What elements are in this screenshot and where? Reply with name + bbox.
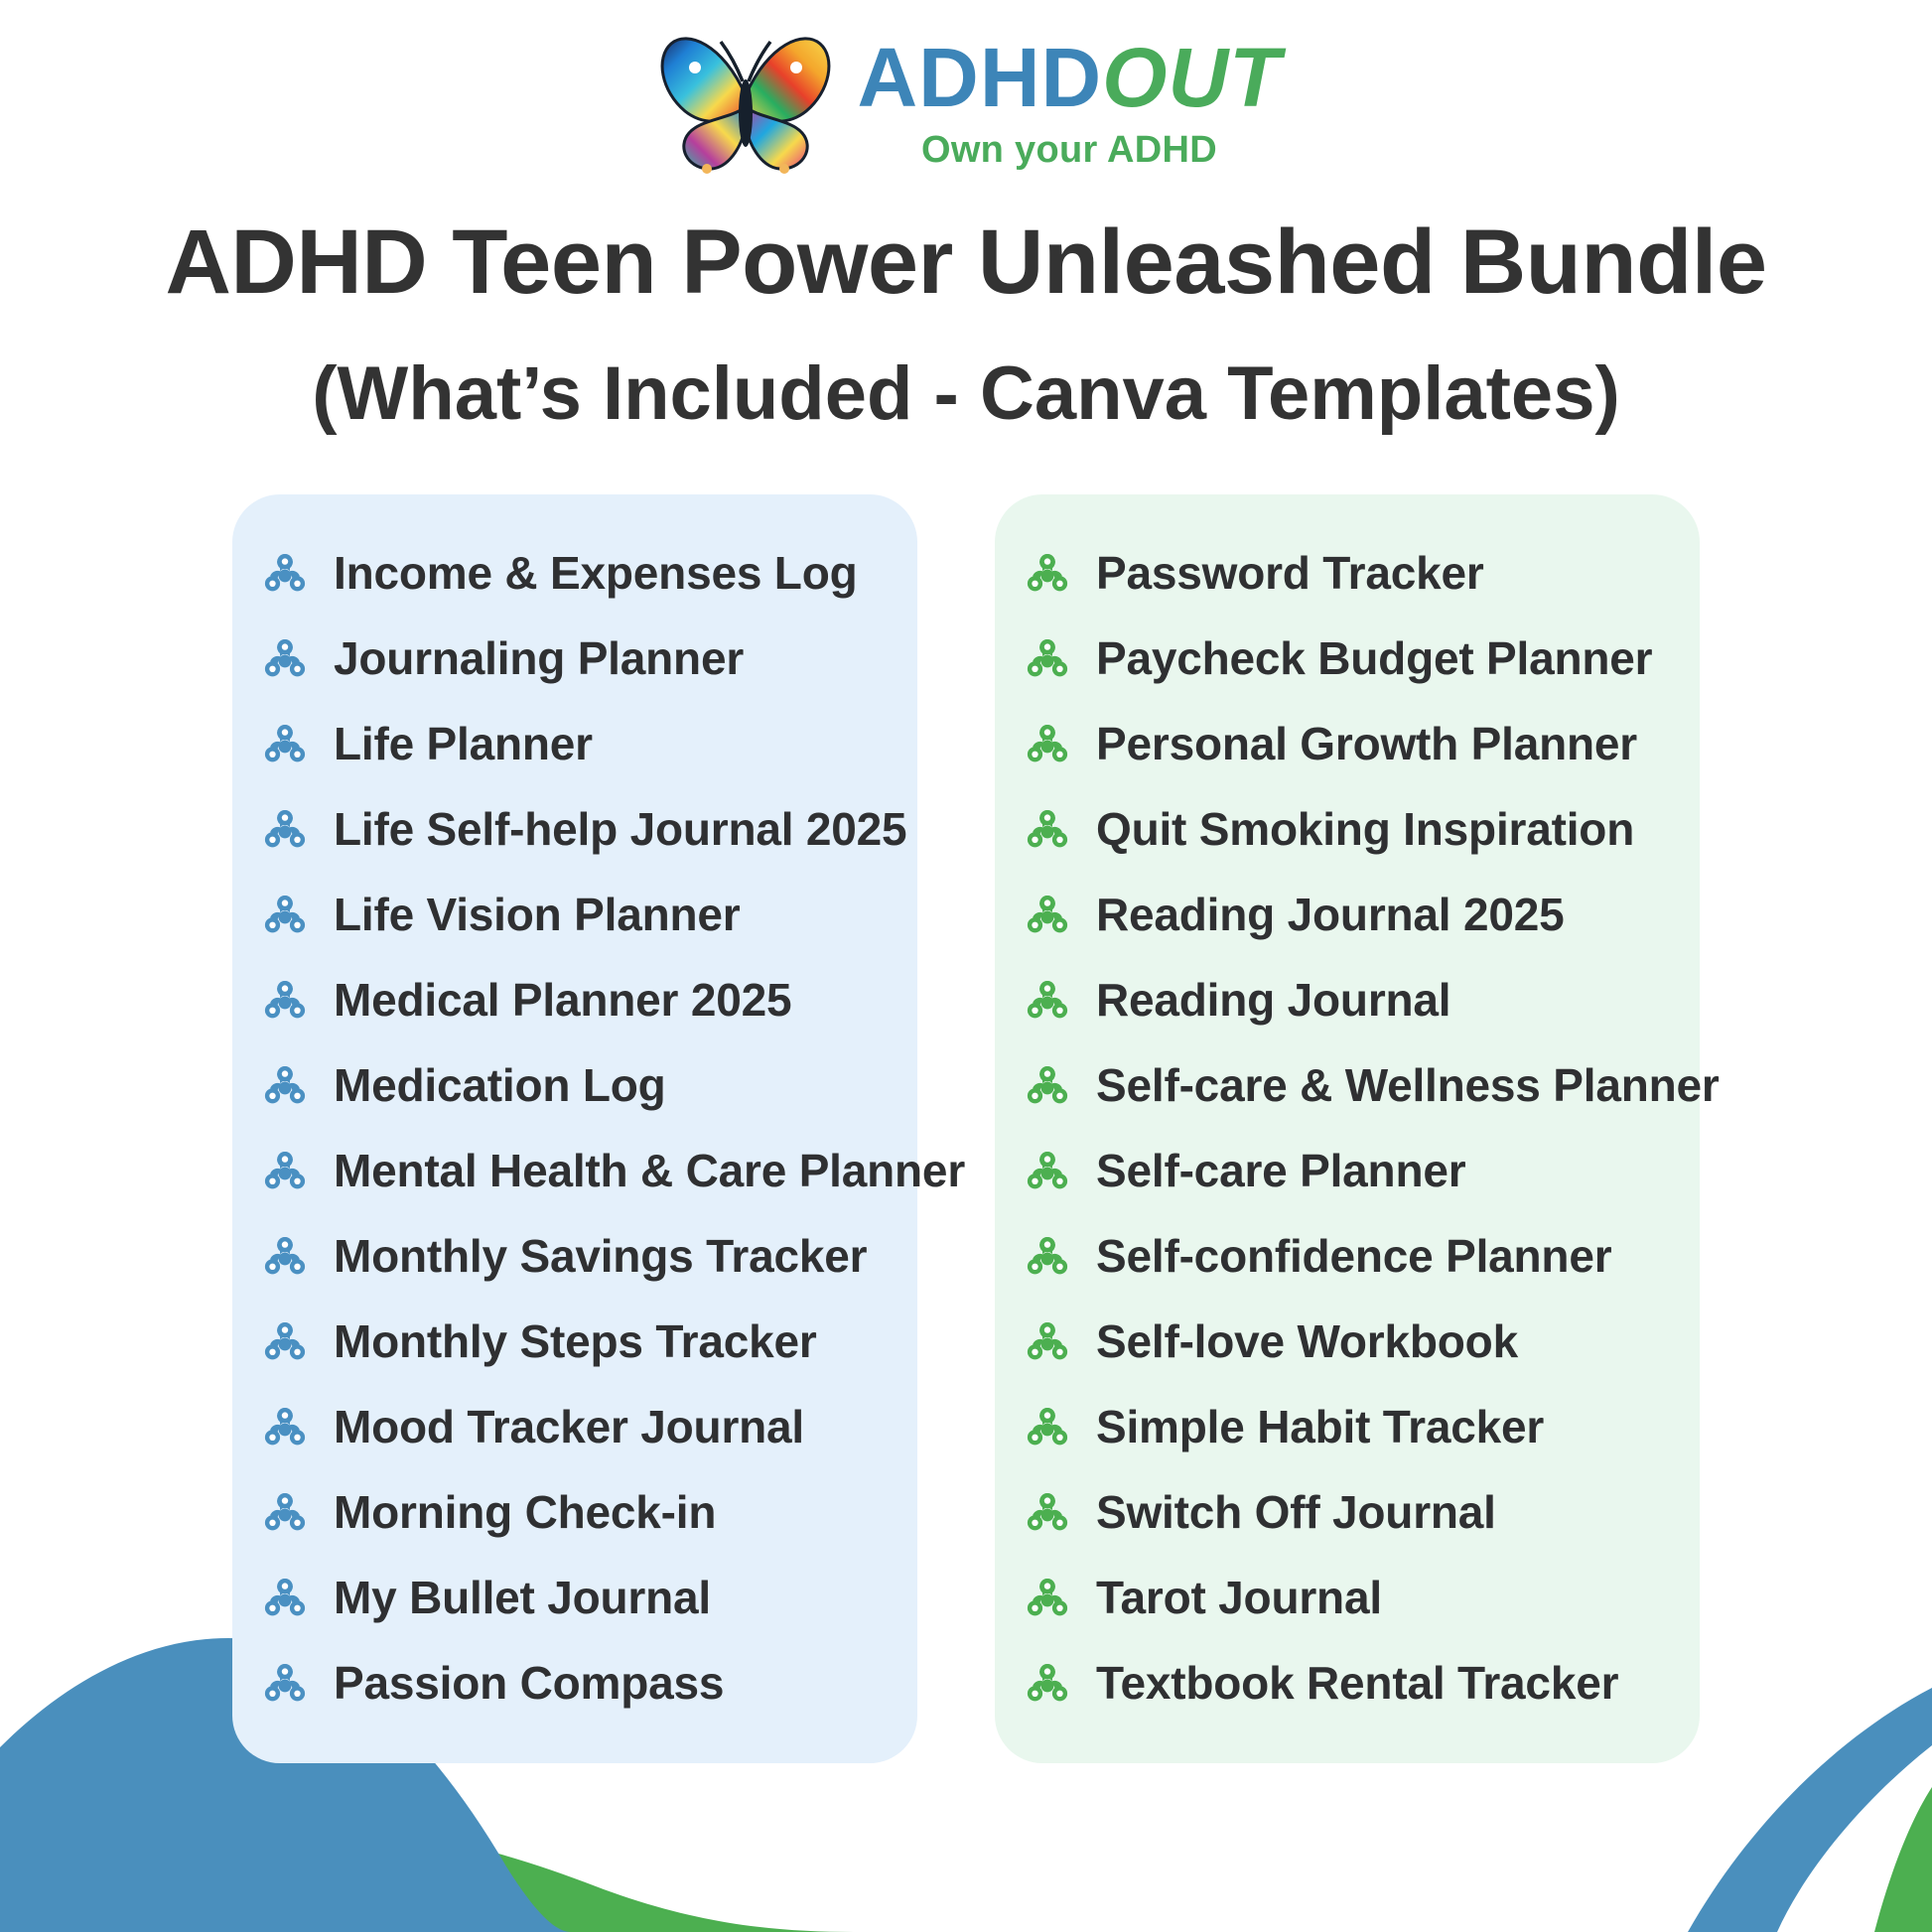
list-item-label: Quit Smoking Inspiration [1096,802,1634,856]
list-item-label: Medical Planner 2025 [334,973,791,1027]
page-subtitle: (What’s Included - Canva Templates) [0,354,1932,434]
list-item-label: Reading Journal [1096,973,1450,1027]
list-item-label: Income & Expenses Log [334,546,858,600]
list-item: Monthly Steps Tracker [262,1299,888,1384]
fidget-spinner-icon [262,1491,308,1533]
list-item: Self-love Workbook [1025,1299,1670,1384]
fidget-spinner-icon [262,552,308,594]
list-item: Reading Journal 2025 [1025,872,1670,957]
list-item-label: Self-confidence Planner [1096,1229,1611,1283]
fidget-spinner-icon [1025,1064,1070,1106]
list-item: Medical Planner 2025 [262,957,888,1042]
fidget-spinner-icon [262,1662,308,1704]
list-item-label: Mental Health & Care Planner [334,1144,965,1197]
fidget-spinner-icon [1025,552,1070,594]
template-columns: Income & Expenses LogJournaling PlannerL… [0,494,1932,1763]
page-title: ADHD Teen Power Unleashed Bundle [0,214,1932,311]
logo-word-adhd: ADHD [858,31,1103,124]
fidget-spinner-icon [1025,894,1070,935]
list-item: Switch Off Journal [1025,1469,1670,1555]
fidget-spinner-icon [1025,1491,1070,1533]
list-item: Reading Journal [1025,957,1670,1042]
list-item-label: Monthly Steps Tracker [334,1314,817,1368]
fidget-spinner-icon [262,894,308,935]
list-item: Monthly Savings Tracker [262,1213,888,1299]
fidget-spinner-icon [1025,979,1070,1021]
fidget-spinner-icon [1025,1662,1070,1704]
list-item: Mental Health & Care Planner [262,1128,888,1213]
list-item-label: Self-love Workbook [1096,1314,1518,1368]
list-item: Medication Log [262,1042,888,1128]
fidget-spinner-icon [262,808,308,850]
fidget-spinner-icon [1025,1150,1070,1191]
list-item: Life Vision Planner [262,872,888,957]
list-item: Income & Expenses Log [262,530,888,616]
list-item-label: Tarot Journal [1096,1571,1382,1624]
right-template-card: Password TrackerPaycheck Budget PlannerP… [995,494,1700,1763]
list-item-label: Medication Log [334,1058,666,1112]
list-item-label: Life Planner [334,717,593,770]
fidget-spinner-icon [1025,808,1070,850]
list-item: Self-confidence Planner [1025,1213,1670,1299]
list-item: Self-care & Wellness Planner [1025,1042,1670,1128]
fidget-spinner-icon [262,1235,308,1277]
fidget-spinner-icon [1025,1406,1070,1448]
green-blob-right [1874,1787,1932,1932]
logo-word-out: OUT [1102,31,1281,124]
green-blob-left [0,1805,854,1932]
list-item: Textbook Rental Tracker [1025,1640,1670,1725]
list-item: Morning Check-in [262,1469,888,1555]
list-item: Paycheck Budget Planner [1025,616,1670,701]
fidget-spinner-icon [262,1064,308,1106]
list-item-label: Life Self-help Journal 2025 [334,802,906,856]
list-item-label: Personal Growth Planner [1096,717,1637,770]
logo-tagline: Own your ADHD [921,131,1217,169]
list-item: Passion Compass [262,1640,888,1725]
fidget-spinner-icon [262,723,308,764]
fidget-spinner-icon [262,979,308,1021]
fidget-spinner-icon [262,1577,308,1618]
right-template-list: Password TrackerPaycheck Budget PlannerP… [1025,530,1670,1725]
list-item-label: Switch Off Journal [1096,1485,1496,1539]
list-item-label: Password Tracker [1096,546,1484,600]
list-item-label: Self-care Planner [1096,1144,1465,1197]
list-item-label: Passion Compass [334,1656,724,1710]
list-item-label: Mood Tracker Journal [334,1400,804,1453]
list-item-label: Self-care & Wellness Planner [1096,1058,1720,1112]
list-item: Personal Growth Planner [1025,701,1670,786]
left-template-list: Income & Expenses LogJournaling PlannerL… [262,530,888,1725]
brand-logo: ADHDOUT Own your ADHD [0,0,1932,177]
list-item: Tarot Journal [1025,1555,1670,1640]
fidget-spinner-icon [262,637,308,679]
fidget-spinner-icon [1025,1320,1070,1362]
left-template-card: Income & Expenses LogJournaling PlannerL… [232,494,917,1763]
fidget-spinner-icon [1025,637,1070,679]
list-item: Mood Tracker Journal [262,1384,888,1469]
list-item-label: Journaling Planner [334,631,744,685]
list-item-label: Reading Journal 2025 [1096,888,1565,941]
list-item: Life Self-help Journal 2025 [262,786,888,872]
list-item-label: My Bullet Journal [334,1571,711,1624]
list-item-label: Morning Check-in [334,1485,716,1539]
list-item: Quit Smoking Inspiration [1025,786,1670,872]
list-item: My Bullet Journal [262,1555,888,1640]
list-item: Password Tracker [1025,530,1670,616]
list-item: Journaling Planner [262,616,888,701]
list-item: Simple Habit Tracker [1025,1384,1670,1469]
list-item-label: Simple Habit Tracker [1096,1400,1544,1453]
fidget-spinner-icon [262,1320,308,1362]
list-item: Self-care Planner [1025,1128,1670,1213]
fidget-spinner-icon [1025,1235,1070,1277]
fidget-spinner-icon [1025,1577,1070,1618]
list-item-label: Life Vision Planner [334,888,740,941]
list-item-label: Paycheck Budget Planner [1096,631,1652,685]
list-item: Life Planner [262,701,888,786]
list-item-label: Monthly Savings Tracker [334,1229,867,1283]
list-item-label: Textbook Rental Tracker [1096,1656,1618,1710]
fidget-spinner-icon [1025,723,1070,764]
fidget-spinner-icon [262,1150,308,1191]
butterfly-icon [651,28,840,177]
fidget-spinner-icon [262,1406,308,1448]
